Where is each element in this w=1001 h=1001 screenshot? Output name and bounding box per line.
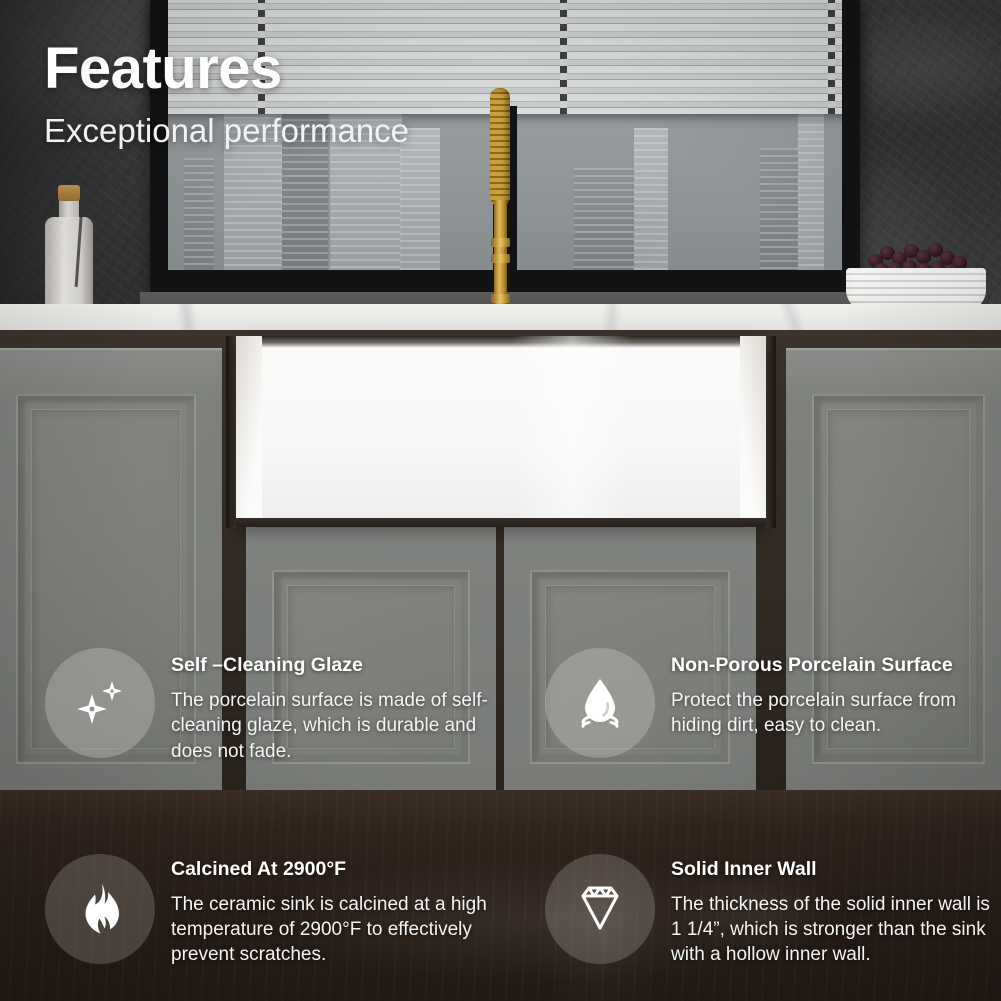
feature-description: The thickness of the solid inner wall is… bbox=[671, 892, 1000, 967]
feature-solid-inner-wall: Solid Inner Wall The thickness of the so… bbox=[500, 830, 1000, 968]
sink-highlight bbox=[512, 336, 632, 524]
feature-text: Self –Cleaning Glaze The porcelain surfa… bbox=[171, 654, 500, 764]
blind-cord bbox=[828, 0, 835, 114]
feature-title: Calcined At 2900°F bbox=[171, 858, 500, 881]
building bbox=[798, 103, 824, 278]
farmhouse-sink bbox=[236, 336, 766, 524]
faucet-ring bbox=[491, 254, 510, 263]
building bbox=[400, 128, 440, 278]
header: Features Exceptional performance bbox=[44, 40, 409, 147]
feature-title: Solid Inner Wall bbox=[671, 858, 1000, 881]
sparkle-icon bbox=[45, 648, 155, 758]
faucet-coil bbox=[490, 88, 510, 206]
feature-non-porous-surface: Non-Porous Porcelain Surface Protect the… bbox=[500, 626, 1000, 764]
building bbox=[634, 128, 668, 278]
building bbox=[184, 158, 214, 278]
flame-icon bbox=[45, 854, 155, 964]
feature-title: Non-Porous Porcelain Surface bbox=[671, 654, 1000, 677]
faucet-ring bbox=[491, 238, 510, 247]
features-row-1: Self –Cleaning Glaze The porcelain surfa… bbox=[0, 626, 1001, 764]
faucet-ring bbox=[491, 294, 510, 303]
feature-description: The ceramic sink is calcined at a high t… bbox=[171, 892, 500, 967]
features-grid: Self –Cleaning Glaze The porcelain surfa… bbox=[0, 626, 1001, 967]
blind-cord bbox=[560, 0, 567, 114]
diamond-icon bbox=[545, 854, 655, 964]
features-row-2: Calcined At 2900°F The ceramic sink is c… bbox=[0, 830, 1001, 968]
water-drop-icon bbox=[545, 648, 655, 758]
feature-calcined-temperature: Calcined At 2900°F The ceramic sink is c… bbox=[0, 830, 500, 968]
feature-text: Non-Porous Porcelain Surface Protect the… bbox=[671, 654, 1000, 739]
page-subtitle: Exceptional performance bbox=[44, 114, 409, 147]
bottle-cork bbox=[58, 185, 80, 201]
gold-faucet bbox=[479, 88, 523, 318]
sink-chamfer-left bbox=[236, 336, 262, 524]
product-feature-image: Features Exceptional performance Self –C… bbox=[0, 0, 1001, 1001]
page-title: Features bbox=[44, 40, 409, 98]
feature-text: Calcined At 2900°F The ceramic sink is c… bbox=[171, 858, 500, 968]
sink-bottom-edge bbox=[236, 518, 766, 527]
feature-self-cleaning-glaze: Self –Cleaning Glaze The porcelain surfa… bbox=[0, 626, 500, 764]
feature-text: Solid Inner Wall The thickness of the so… bbox=[671, 858, 1000, 968]
sink-chamfer-right bbox=[740, 336, 766, 524]
feature-title: Self –Cleaning Glaze bbox=[171, 654, 500, 677]
feature-description: Protect the porcelain surface from hidin… bbox=[671, 688, 1000, 738]
feature-description: The porcelain surface is made of self-cl… bbox=[171, 688, 500, 763]
